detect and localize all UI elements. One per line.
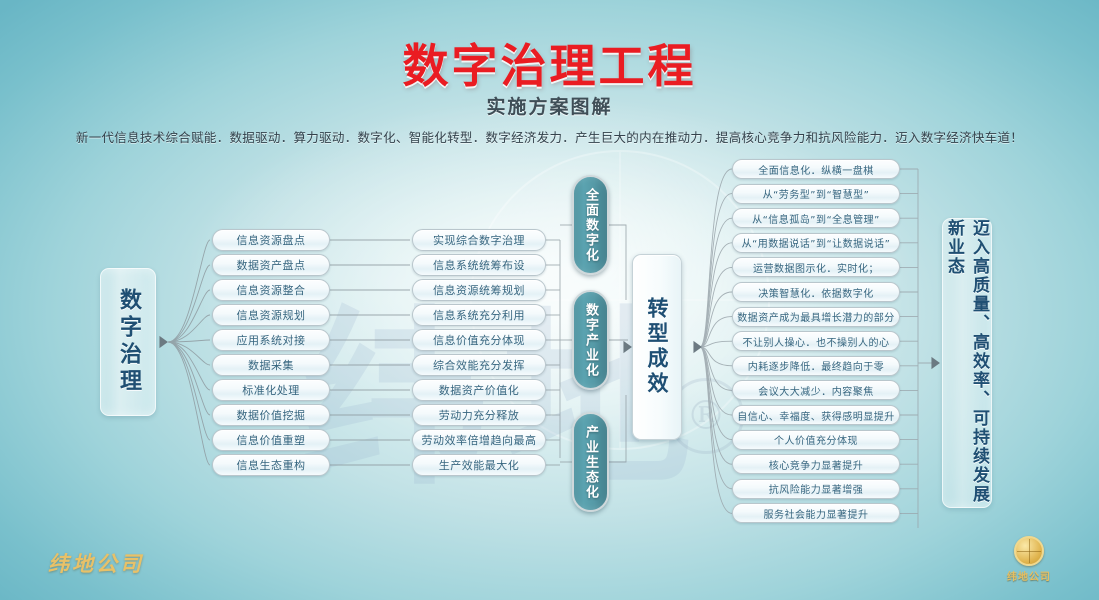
stage-pill-3[interactable]: 产业生态化 (572, 412, 609, 512)
company-logo[interactable]: 纬地公司 (1004, 536, 1054, 588)
column-one-item[interactable]: 信息资源整合 (212, 279, 330, 301)
center-node-transformation-results[interactable]: 转型成效 (632, 254, 682, 440)
column-one-item[interactable]: 信息资源盘点 (212, 229, 330, 251)
stage-pill-1[interactable]: 全面数字化 (572, 175, 609, 275)
poster-canvas: 纬地 ® 数字治理工程 实施方案图解 新一代信息技术综合赋能．数据驱动．算力驱动… (0, 0, 1099, 600)
column-two-item[interactable]: 信息价值充分体现 (412, 329, 546, 351)
column-two-item[interactable]: 信息系统充分利用 (412, 304, 546, 326)
column-two-item[interactable]: 生产效能最大化 (412, 454, 546, 476)
column-three-item[interactable]: 从“劳务型”到“智慧型” (732, 184, 900, 204)
column-three-item[interactable]: 服务社会能力显著提升 (732, 503, 900, 523)
column-three-item[interactable]: 全面信息化．纵横一盘棋 (732, 159, 900, 179)
column-three-item[interactable]: 决策智慧化．依据数字化 (732, 282, 900, 302)
column-two-item[interactable]: 信息资源统筹规划 (412, 279, 546, 301)
column-two-item[interactable]: 数据资产价值化 (412, 379, 546, 401)
column-three-item[interactable]: 抗风险能力显著增强 (732, 479, 900, 499)
column-one-item[interactable]: 信息价值重塑 (212, 429, 330, 451)
column-one-item[interactable]: 信息生态重构 (212, 454, 330, 476)
root-node-digital-governance[interactable]: 数字治理 (100, 268, 156, 416)
column-three-item[interactable]: 自信心、幸福度、获得感明显提升 (732, 405, 900, 425)
outcome-node-new-business-form[interactable]: 迈入高质量、高效率、可持续发展新业态 (942, 218, 992, 508)
company-signature: 纬地公司 (48, 548, 144, 578)
column-three-item[interactable]: 会议大大减少．内容聚焦 (732, 380, 900, 400)
column-three-item[interactable]: 不让别人操心．也不操别人的心 (732, 331, 900, 351)
column-one-item[interactable]: 数据价值挖掘 (212, 404, 330, 426)
column-three-item[interactable]: 数据资产成为最具增长潜力的部分 (732, 307, 900, 327)
column-two-item[interactable]: 实现综合数字治理 (412, 229, 546, 251)
column-one-item[interactable]: 信息资源规划 (212, 304, 330, 326)
lead-paragraph: 新一代信息技术综合赋能．数据驱动．算力驱动．数字化、智能化转型．数字经济发力．产… (0, 127, 1099, 146)
column-one-item[interactable]: 应用系统对接 (212, 329, 330, 351)
column-three-item[interactable]: 运营数据图示化．实时化； (732, 257, 900, 277)
column-two-item[interactable]: 劳动效率倍增趋向最高 (412, 429, 546, 451)
logo-text: 纬地公司 (1007, 568, 1051, 583)
column-three-item[interactable]: 个人价值充分体现 (732, 430, 900, 450)
column-three-item[interactable]: 内耗逐步降低．最终趋向于零 (732, 356, 900, 376)
column-two-item[interactable]: 劳动力充分释放 (412, 404, 546, 426)
column-three-item[interactable]: 核心竞争力显著提升 (732, 454, 900, 474)
column-two-item[interactable]: 信息系统统筹布设 (412, 254, 546, 276)
column-three-item[interactable]: 从“用数据说话”到“让数据说话” (732, 233, 900, 253)
column-three-item[interactable]: 从“信息孤岛”到“全息管理” (732, 208, 900, 228)
globe-icon (1014, 536, 1044, 566)
page-title: 数字治理工程 (0, 30, 1099, 96)
column-two-item[interactable]: 综合效能充分发挥 (412, 354, 546, 376)
column-one-item[interactable]: 标准化处理 (212, 379, 330, 401)
stage-pill-2[interactable]: 数字产业化 (572, 290, 609, 390)
page-subtitle: 实施方案图解 (0, 92, 1099, 119)
column-one-item[interactable]: 数据资产盘点 (212, 254, 330, 276)
column-one-item[interactable]: 数据采集 (212, 354, 330, 376)
